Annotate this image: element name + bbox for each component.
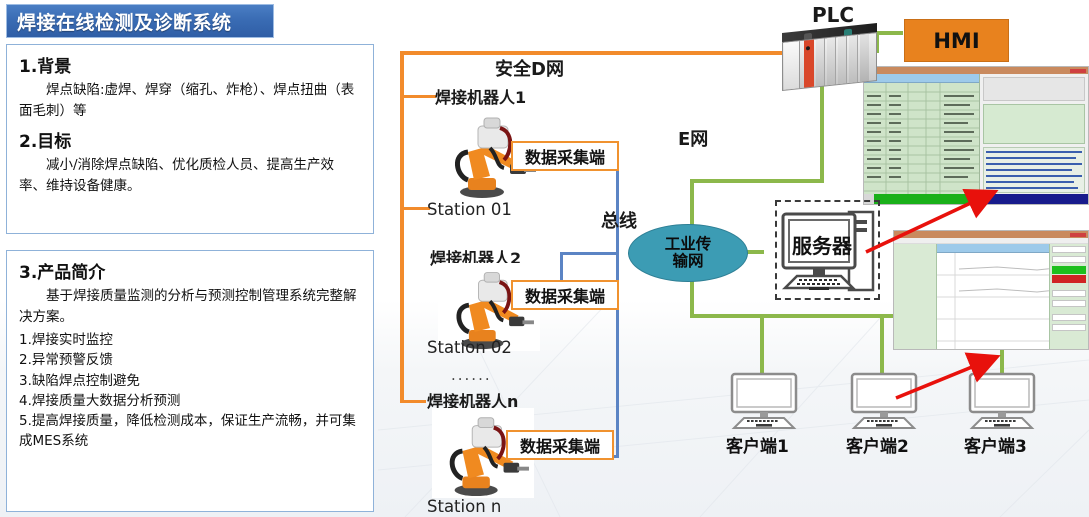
label-station-n: Station n [427,497,501,516]
label-client-2: 客户端2 [846,432,909,457]
safety-net-branch-station1 [400,207,430,210]
enet-plc-to-hmi-horiz [875,31,903,35]
enet-drop-client1 [760,314,764,374]
bus-branch-cloud [560,252,619,255]
label-station-2: Station 02 [427,338,512,357]
section-body-target: 减小/消除焊点缺陷、优化质检人员、提高生产效率、维持设备健康。 [19,155,361,197]
panel-product-intro: 3.产品简介 基于焊接质量监测的分析与预测控制管理系统完整解决方案。 1.焊接实… [6,250,374,512]
hmi-label: HMI [933,29,979,53]
label-bus: 总线 [601,207,637,233]
section-heading-target: 2.目标 [19,132,361,153]
enet-line-plc-down [820,78,824,183]
data-collector-label-1: 数据采集端 [525,144,605,168]
enet-line-horizontal-top [690,179,824,183]
section-heading-background: 1.背景 [19,57,361,78]
product-list-item-1: 1.焊接实时监控 [19,330,361,350]
label-client-1: 客户端1 [726,432,789,457]
label-ellipsis: ...... [451,366,492,384]
label-plc: PLC [812,3,854,27]
enet-drop-client2 [880,314,884,374]
industrial-network-ellipse-icon[interactable]: 工业传 输网 [628,224,748,282]
cloud-label-line-1: 工业传 [665,236,712,253]
page-title: 焊接在线检测及诊断系统 [6,4,274,38]
label-station-1: Station 01 [427,200,512,219]
safety-net-branch-robot1 [400,95,436,98]
data-collector-label-2: 数据采集端 [525,283,605,307]
screenshot-titlebar-top [864,67,1088,74]
data-collector-label-n: 数据采集端 [520,433,600,457]
data-collector-2[interactable]: 数据采集端 [511,280,619,310]
section-body-background: 焊点缺陷:虚焊、焊穿（缩孔、炸枪）、焊点扭曲（表面毛刺）等 [19,80,361,122]
safety-net-line-vertical [400,51,404,403]
section-heading-product: 3.产品简介 [19,263,361,284]
page-title-text: 焊接在线检测及诊断系统 [17,8,232,35]
desktop-computer-icon-1[interactable] [724,372,804,430]
red-arrow-icon-server-to-top-screenshot [860,180,1015,260]
server-label: 服务器 [785,230,859,259]
section-body-product: 基于焊接质量监测的分析与预测控制管理系统完整解决方案。 [19,286,361,328]
label-client-3: 客户端3 [964,432,1027,457]
product-list-item-5: 5.提高焊接质量，降低检测成本，保证生产流畅，并可集成MES系统 [19,411,361,452]
hmi-panel-icon[interactable]: HMI [904,19,1009,62]
cloud-label-line-2: 输网 [672,253,703,270]
data-collector-n[interactable]: 数据采集端 [506,430,614,460]
safety-net-line-top [400,51,786,55]
plc-rack-icon [782,23,877,91]
panel-background-target: 1.背景 焊点缺陷:虚焊、焊穿（缩孔、炸枪）、焊点扭曲（表面毛刺）等 2.目标 … [6,44,374,234]
product-list-item-3: 3.缺陷焊点控制避免 [19,371,361,391]
product-list-item-4: 4.焊接质量大数据分析预测 [19,391,361,411]
slide-root: 焊接在线检测及诊断系统 1.背景 焊点缺陷:虚焊、焊穿（缩孔、炸枪）、焊点扭曲（… [0,0,1089,517]
data-collector-1[interactable]: 数据采集端 [511,141,619,171]
product-list-item-2: 2.异常预警反馈 [19,350,361,370]
label-e-net: E网 [678,125,708,151]
red-arrow-icon-client-to-bottom-screenshot [890,350,1020,405]
safety-net-branch-robotn [400,400,426,403]
label-robot-1: 焊接机器人1 [435,84,526,108]
label-safety-d-net: 安全D网 [495,55,564,81]
